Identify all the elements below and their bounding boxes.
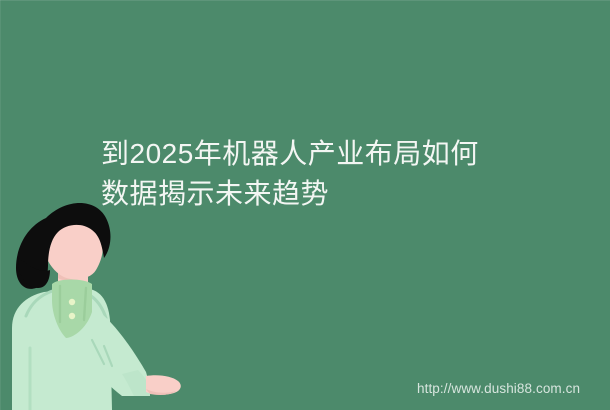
open-hand-group xyxy=(146,375,181,395)
title-line-2: 数据揭示未来趋势 xyxy=(101,174,581,214)
collar-button-bottom xyxy=(69,313,75,319)
page-title: 到2025年机器人产业布局如何 数据揭示未来趋势 xyxy=(101,134,581,214)
collar-button-top xyxy=(69,299,75,305)
person-illustration xyxy=(0,196,200,410)
title-line-1: 到2025年机器人产业布局如何 xyxy=(101,134,581,174)
cover-image-canvas: 到2025年机器人产业布局如何 数据揭示未来趋势 http://www.dush… xyxy=(0,0,610,410)
watermark-url: http://www.dushi88.com.cn xyxy=(417,381,580,397)
